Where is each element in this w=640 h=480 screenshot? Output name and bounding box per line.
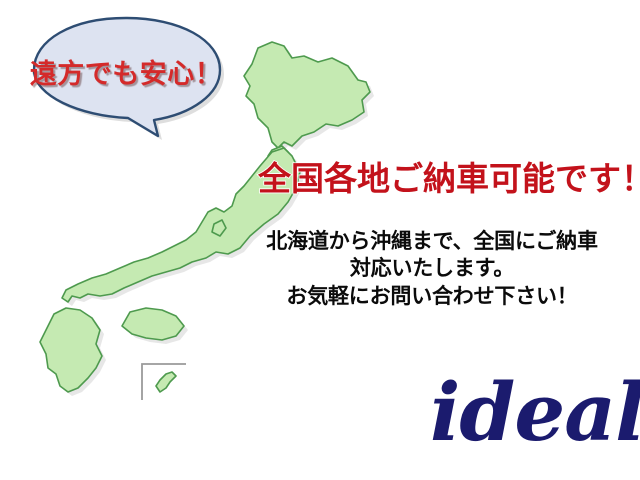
body-copy-line-2: 対応いたします。 [256, 255, 608, 282]
body-copy: 北海道から沖縄まで、全国にご納車 対応いたします。 お気軽にお問い合わせ下さい！ [256, 228, 608, 310]
headline-text: 全国各地ご納車可能です！ [258, 152, 634, 200]
region-hokkaido [244, 42, 370, 148]
speech-bubble-text: 遠方でも安心！ [12, 52, 240, 91]
speech-bubble: 遠方でも安心！ [12, 14, 240, 146]
brand-logo-ideal: ideal [430, 372, 640, 452]
body-copy-line-1: 北海道から沖縄まで、全国にご納車 [256, 228, 608, 255]
body-copy-line-3: お気軽にお問い合わせ下さい！ [256, 283, 608, 310]
region-shikoku [122, 308, 184, 340]
island-okinawa [156, 372, 176, 392]
poster-canvas: 遠方でも安心！ 全国各地ご納車可能です！ 北海道から沖縄まで、全国にご納車 対応… [0, 0, 640, 480]
